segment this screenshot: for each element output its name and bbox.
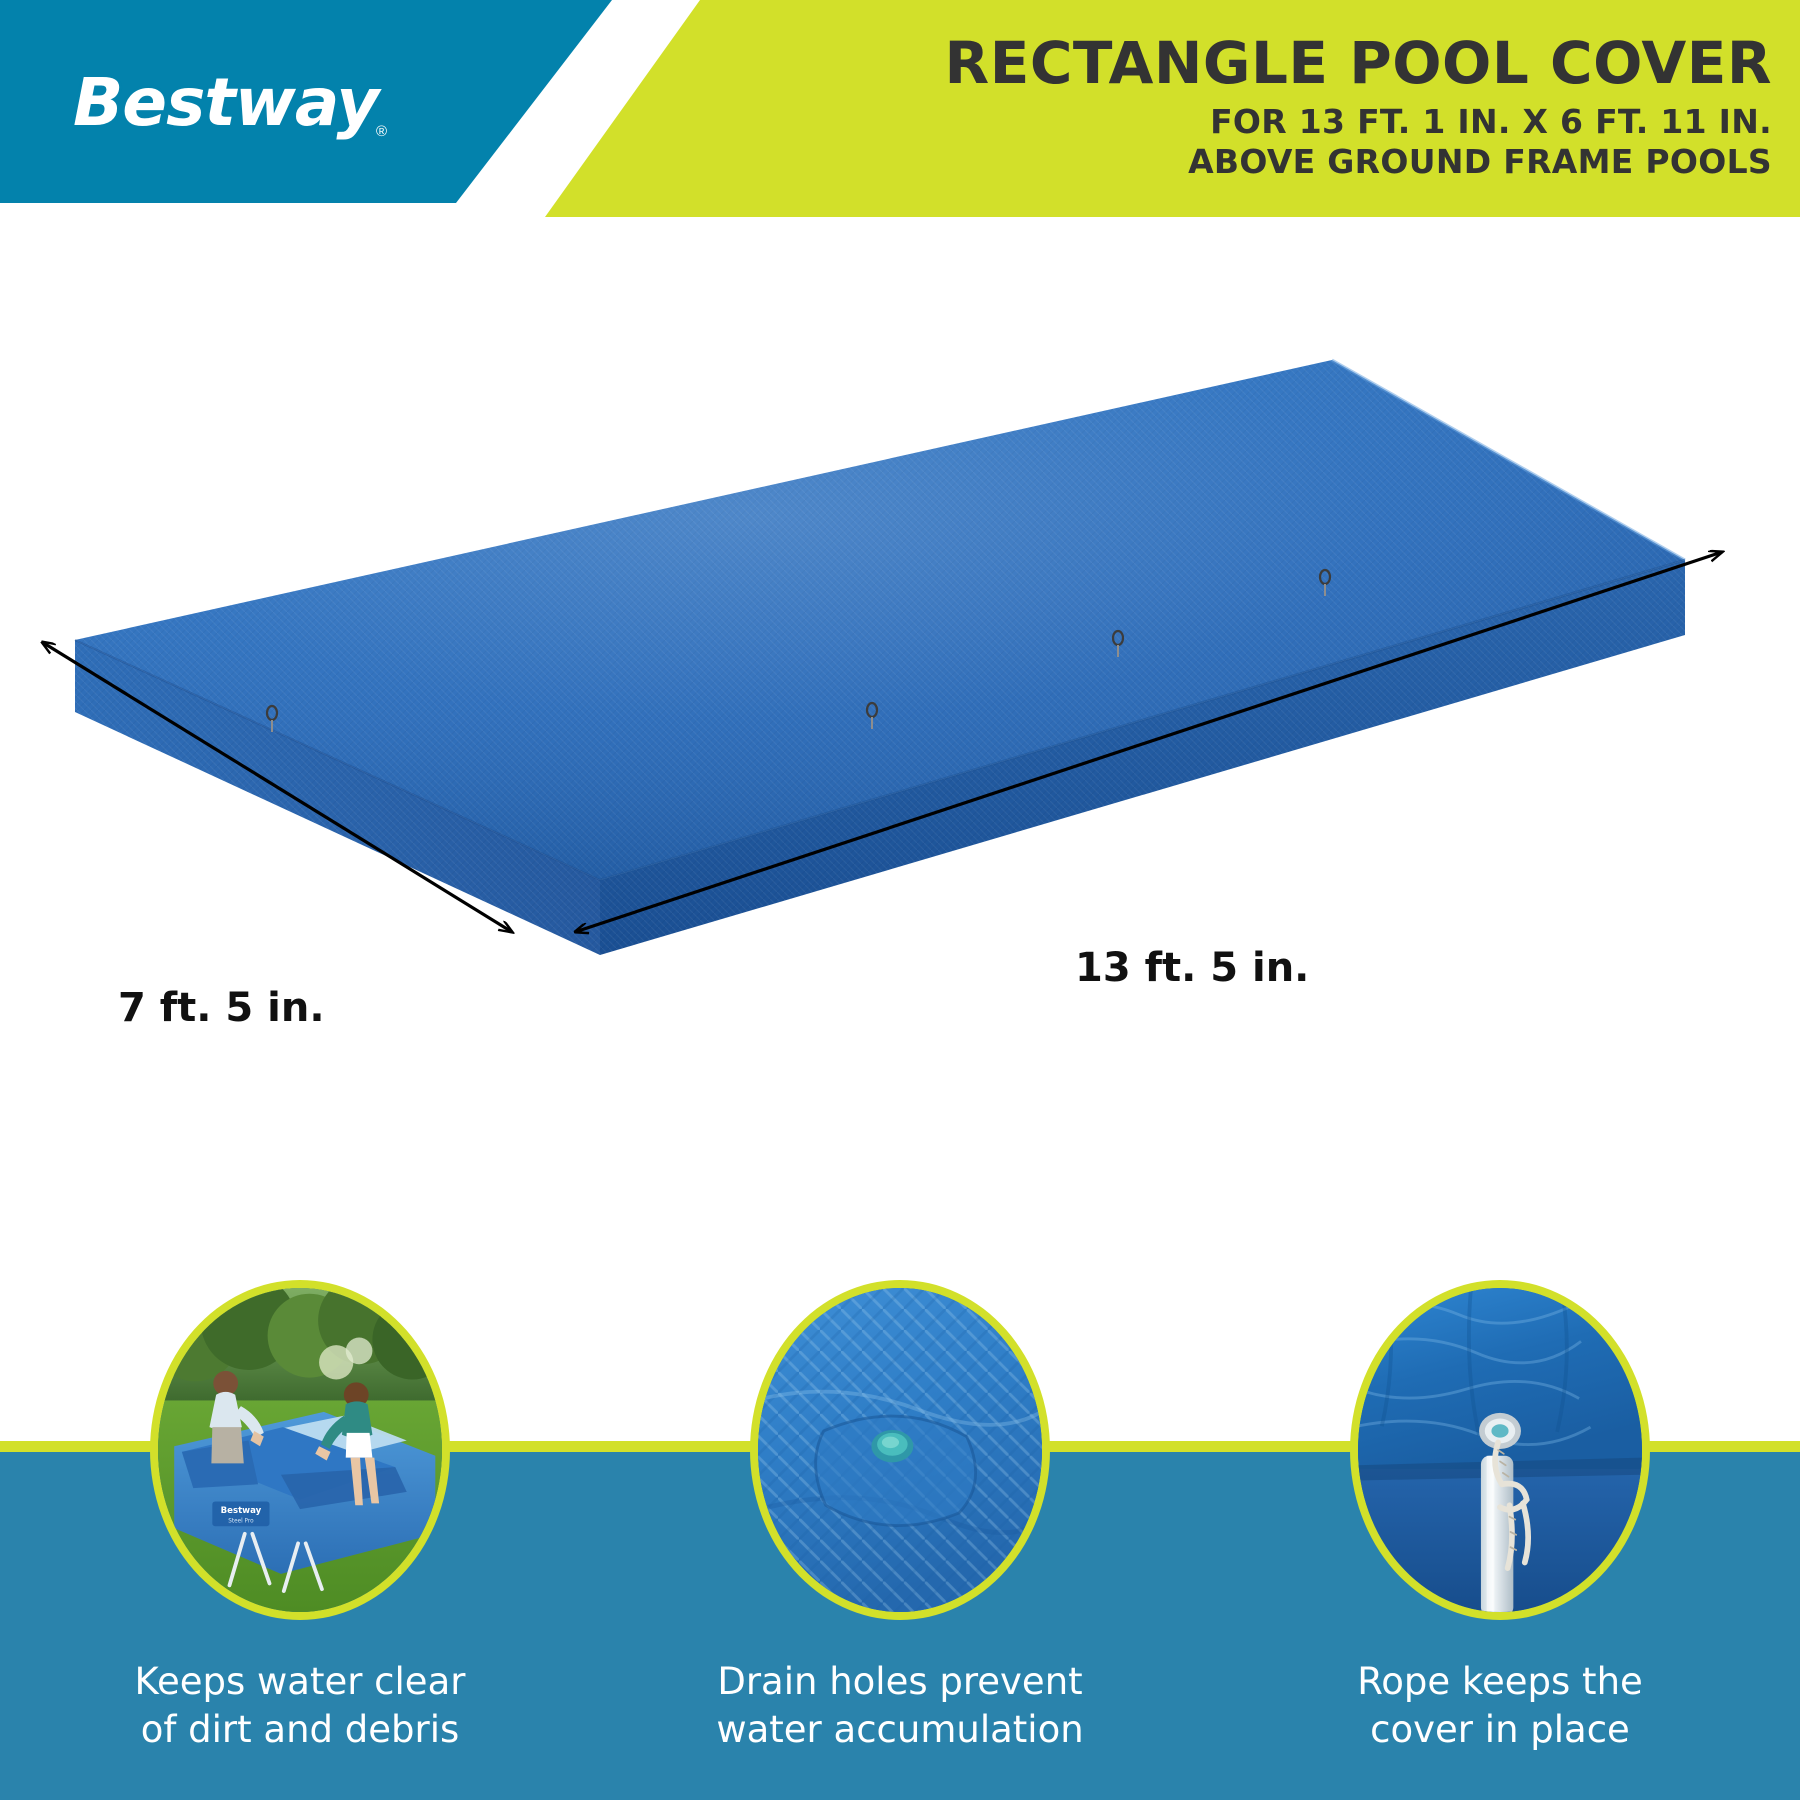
feature-caption-2-line2: cover in place xyxy=(1200,1706,1800,1754)
dimension-label-length: 13 ft. 5 in. xyxy=(1075,945,1309,991)
feature-caption-0-line2: of dirt and debris xyxy=(0,1706,600,1754)
feature-image-couple-placing-cover: Bestway Steel Pro xyxy=(150,1280,450,1620)
feature-rope-keeps-cover: Rope keeps the cover in place xyxy=(1200,1280,1800,1800)
feature-caption-1-line2: water accumulation xyxy=(600,1706,1200,1754)
feature-caption-1: Drain holes prevent water accumulation xyxy=(600,1658,1200,1754)
registered-trademark-icon: ® xyxy=(376,123,387,140)
page-subtitle-size: FOR 13 FT. 1 IN. X 6 FT. 11 IN. xyxy=(945,102,1772,142)
bestway-logo-text: Bestway xyxy=(73,64,378,141)
feature-caption-0-line1: Keeps water clear xyxy=(0,1658,600,1706)
feature-caption-0: Keeps water clear of dirt and debris xyxy=(0,1658,600,1754)
pool-brand-sub: Steel Pro xyxy=(228,1518,254,1524)
drain-hole-icon xyxy=(871,1430,913,1462)
header-title-block: RECTANGLE POOL COVER FOR 13 FT. 1 IN. X … xyxy=(945,32,1772,182)
feature-image-drain-hole xyxy=(750,1280,1050,1620)
feature-keeps-water-clear: Bestway Steel Pro Keeps water xyxy=(0,1280,600,1800)
feature-caption-1-line1: Drain holes prevent xyxy=(600,1658,1200,1706)
page-header: Bestway ® RECTANGLE POOL COVER FOR 13 FT… xyxy=(0,0,1800,220)
feature-caption-2-line1: Rope keeps the xyxy=(1200,1658,1800,1706)
page-subtitle-pooltype: ABOVE GROUND FRAME POOLS xyxy=(945,142,1772,182)
feature-drain-holes: Drain holes prevent water accumulation xyxy=(600,1280,1200,1800)
photo-drain-hole xyxy=(758,1288,1042,1612)
dimension-label-width: 7 ft. 5 in. xyxy=(118,985,325,1031)
photo-rope-grommet xyxy=(1358,1288,1642,1612)
photo-couple-pool: Bestway Steel Pro xyxy=(158,1288,442,1612)
product-illustration: 7 ft. 5 in. 13 ft. 5 in. xyxy=(0,220,1800,1220)
feature-caption-2: Rope keeps the cover in place xyxy=(1200,1658,1800,1754)
page-title: RECTANGLE POOL COVER xyxy=(945,32,1772,94)
pool-brand-mark: Bestway xyxy=(221,1506,262,1516)
pool-cover-drawing xyxy=(0,220,1800,1220)
bestway-logo: Bestway ® xyxy=(73,62,383,144)
feature-image-rope-grommet xyxy=(1350,1280,1650,1620)
